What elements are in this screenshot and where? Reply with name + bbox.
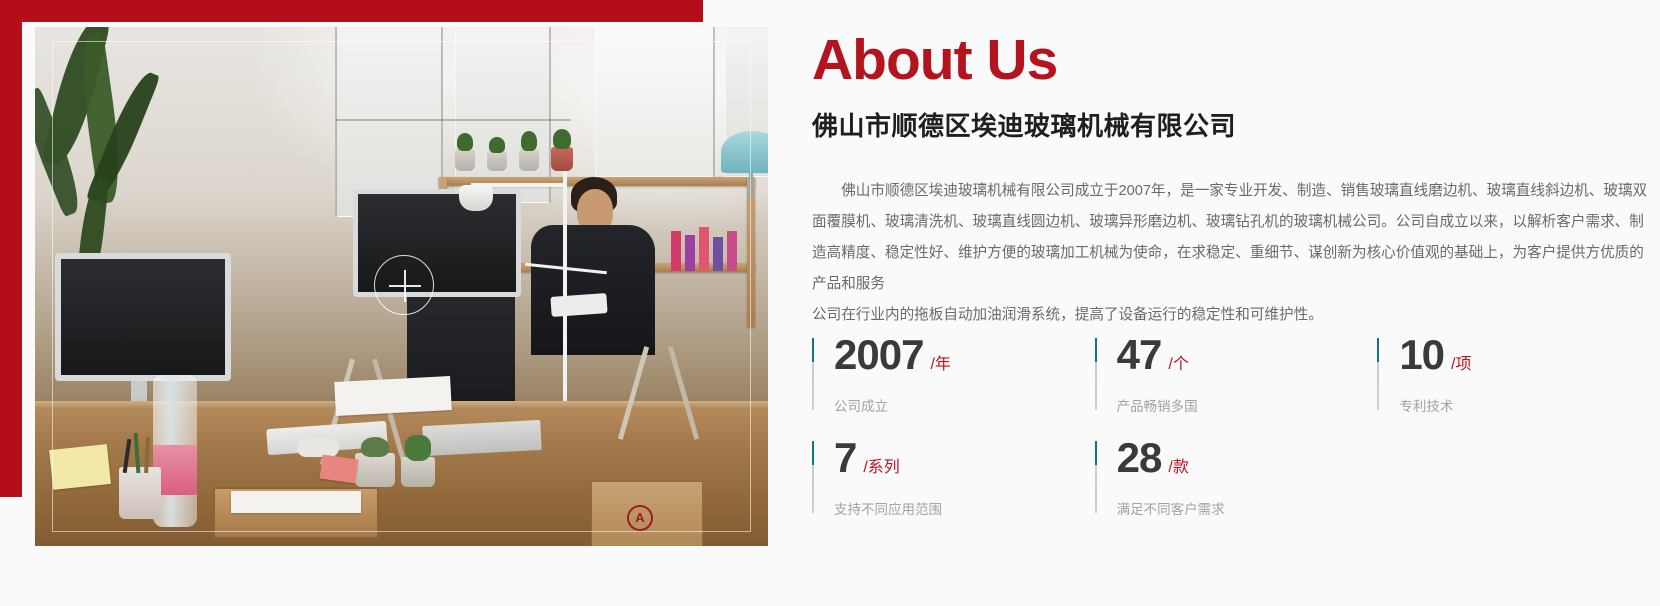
company-name: 佛山市顺德区埃迪玻璃机械有限公司 — [812, 106, 1236, 143]
lamp-shade — [459, 185, 493, 211]
bottle-item — [685, 235, 695, 271]
plant-pot — [455, 149, 475, 171]
red-accent-band-top — [0, 0, 703, 22]
stat-value: 28 — [1117, 437, 1162, 479]
stat-item: 7 /系列 支持不同应用范围 — [812, 437, 1095, 540]
about-paragraph-2: 公司在行业内的拖板自动加油润滑系统，提高了设备运行的稳定性和可维护性。 — [812, 300, 1650, 331]
stat-value-row: 7 /系列 — [834, 437, 1095, 487]
stat-item: 28 /款 满足不同客户需求 — [1095, 437, 1378, 540]
stat-unit: /系列 — [863, 460, 899, 476]
plant-pot — [551, 147, 573, 171]
plant-pot — [487, 151, 507, 171]
stat-caption: 公司成立 — [834, 395, 1095, 415]
stat-rule — [1095, 338, 1097, 410]
plant-pot — [355, 453, 395, 487]
stat-caption: 产品畅销多国 — [1117, 395, 1378, 415]
stat-rule — [1377, 338, 1379, 410]
office-photo[interactable]: A — [35, 27, 768, 546]
window-mullion — [335, 119, 571, 121]
stat-unit: /款 — [1168, 460, 1188, 476]
stat-item-empty — [1377, 437, 1660, 540]
computer-monitor — [55, 253, 231, 381]
stat-unit: /项 — [1451, 357, 1471, 373]
pot-plant-icon — [521, 131, 537, 151]
red-accent-band-left — [0, 0, 22, 497]
stat-rule — [1095, 441, 1097, 513]
about-paragraph-1: 佛山市顺德区埃迪玻璃机械有限公司成立于2007年，是一家专业开发、制造、销售玻璃… — [812, 176, 1650, 300]
laptop — [422, 420, 541, 456]
stat-value-row: 2007 /年 — [834, 334, 1095, 384]
sticky-note — [320, 455, 359, 484]
pot-plant-icon — [457, 133, 473, 151]
person-body — [531, 225, 655, 355]
desk-object — [550, 293, 607, 317]
shelf-post — [747, 177, 755, 327]
plant-pot — [401, 457, 435, 487]
bottle-item — [727, 231, 737, 271]
stat-caption: 支持不同应用范围 — [834, 498, 1095, 518]
stat-caption: 满足不同客户需求 — [1117, 498, 1378, 518]
bottle-item — [699, 227, 709, 271]
about-description: 佛山市顺德区埃迪玻璃机械有限公司成立于2007年，是一家专业开发、制造、销售玻璃… — [812, 176, 1650, 331]
pot-plant-icon — [361, 437, 389, 457]
bottle-item — [713, 237, 723, 271]
plant-pot — [519, 149, 539, 171]
pot-plant-icon — [553, 129, 571, 149]
box-logo: A — [627, 505, 653, 531]
about-content: About Us 佛山市顺德区埃迪玻璃机械有限公司 佛山市顺德区埃迪玻璃机械有限… — [812, 0, 1660, 606]
stat-unit: /年 — [930, 357, 950, 373]
stat-item: 10 /项 专利技术 — [1377, 334, 1660, 437]
stat-rule — [812, 338, 814, 410]
desk-lamp — [721, 131, 768, 173]
stat-value: 7 — [834, 437, 856, 479]
computer-mouse — [297, 439, 339, 457]
window-mullion — [335, 27, 337, 217]
stat-item: 47 /个 产品畅销多国 — [1095, 334, 1378, 437]
lamp-stem — [749, 171, 753, 197]
sticky-note — [49, 444, 111, 490]
stat-item: 2007 /年 公司成立 — [812, 334, 1095, 437]
zoom-in-icon[interactable] — [374, 255, 434, 315]
window-mullion — [713, 27, 715, 177]
bottle-item — [671, 231, 681, 271]
page-title: About Us — [812, 32, 1057, 89]
stat-unit: /个 — [1168, 357, 1188, 373]
stat-value: 10 — [1399, 334, 1444, 376]
pencil-cup — [119, 467, 161, 519]
stat-caption: 专利技术 — [1399, 395, 1660, 415]
stats-grid: 2007 /年 公司成立 47 /个 产品畅销多国 10 /项 专 — [812, 334, 1660, 540]
stat-value: 47 — [1117, 334, 1162, 376]
about-us-section: A About Us 佛山市顺德区埃迪玻璃机械有限公司 佛山市顺德区埃迪玻璃机械… — [0, 0, 1660, 606]
stat-value-row: 28 /款 — [1117, 437, 1378, 487]
stat-value-row: 47 /个 — [1117, 334, 1378, 384]
cactus-icon — [405, 435, 431, 461]
stat-rule — [812, 441, 814, 513]
paper-sheet — [231, 491, 361, 513]
window-pane — [595, 27, 715, 177]
stat-value-row: 10 /项 — [1399, 334, 1660, 384]
paper-sheet — [334, 376, 452, 416]
stat-value: 2007 — [834, 334, 923, 376]
pot-plant-icon — [489, 137, 505, 153]
